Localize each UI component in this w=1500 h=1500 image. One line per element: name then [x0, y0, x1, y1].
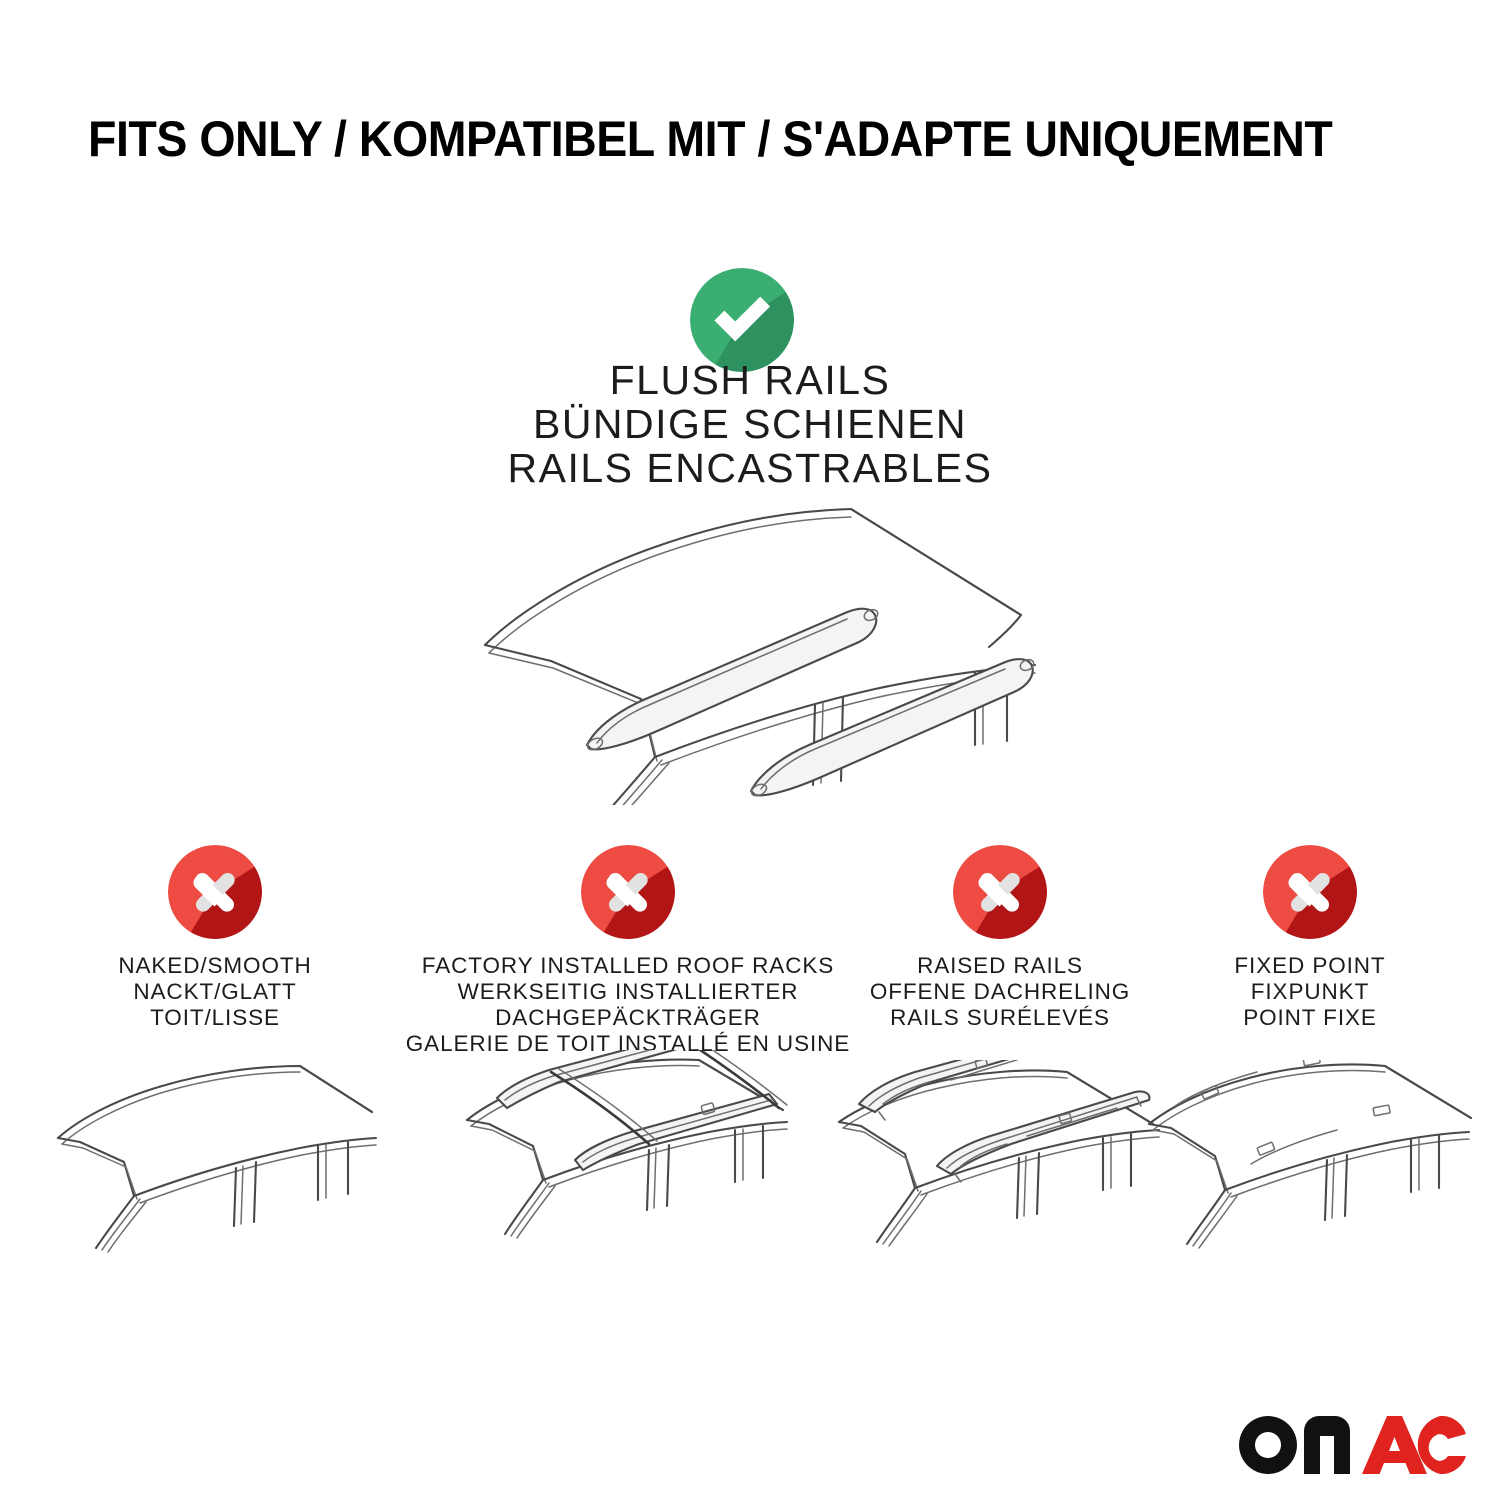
caption-line-1: FIXED POINT [1160, 953, 1460, 979]
x-circle-icon [168, 845, 262, 939]
caption-line-2: OFFENE DACHRELING [840, 979, 1160, 1005]
caption-line-3: RAILS SURÉLEVÉS [840, 1005, 1160, 1031]
compatible-heading-line-3: RAILS ENCASTRABLES [250, 446, 1250, 490]
page-title-text: FITS ONLY / KOMPATIBEL MIT / S'ADAPTE UN… [88, 110, 1332, 168]
option-factory-roof-racks-caption: FACTORY INSTALLED ROOF RACKS WERKSEITIG … [398, 953, 858, 1057]
caption-line-3: TOIT/LISSE [45, 1005, 385, 1031]
car-roof-fixed-point-illustration [1145, 1060, 1475, 1275]
caption-line-2: WERKSEITIG INSTALLIERTER [398, 979, 858, 1005]
caption-line-3: DACHGEPÄCKTRÄGER [398, 1005, 858, 1031]
caption-line-1: NAKED/SMOOTH [45, 953, 385, 979]
car-roof-raised-rails-illustration [835, 1060, 1165, 1275]
caption-line-1: FACTORY INSTALLED ROOF RACKS [398, 953, 858, 979]
x-circle-icon [1263, 845, 1357, 939]
caption-line-2: FIXPUNKT [1160, 979, 1460, 1005]
caption-line-2: NACKT/GLATT [45, 979, 385, 1005]
option-raised-rails-caption: RAISED RAILS OFFENE DACHRELING RAILS SUR… [840, 953, 1160, 1031]
caption-line-3: POINT FIXE [1160, 1005, 1460, 1031]
compatible-heading-line-2: BÜNDIGE SCHIENEN [250, 402, 1250, 446]
car-roof-factory-racks-illustration [463, 1050, 793, 1265]
x-circle-icon [581, 845, 675, 939]
omac-logo [1238, 1412, 1470, 1478]
car-roof-naked-illustration [50, 1060, 380, 1275]
compatible-heading: FLUSH RAILS BÜNDIGE SCHIENEN RAILS ENCAS… [250, 358, 1250, 490]
compatible-heading-line-1: FLUSH RAILS [250, 358, 1250, 402]
x-circle-icon [953, 845, 1047, 939]
caption-line-1: RAISED RAILS [840, 953, 1160, 979]
car-roof-flush-rails-illustration [455, 495, 1055, 805]
option-fixed-point-caption: FIXED POINT FIXPUNKT POINT FIXE [1160, 953, 1460, 1031]
option-naked-smooth-caption: NAKED/SMOOTH NACKT/GLATT TOIT/LISSE [45, 953, 385, 1031]
page-title: FITS ONLY / KOMPATIBEL MIT / S'ADAPTE UN… [88, 108, 1418, 170]
